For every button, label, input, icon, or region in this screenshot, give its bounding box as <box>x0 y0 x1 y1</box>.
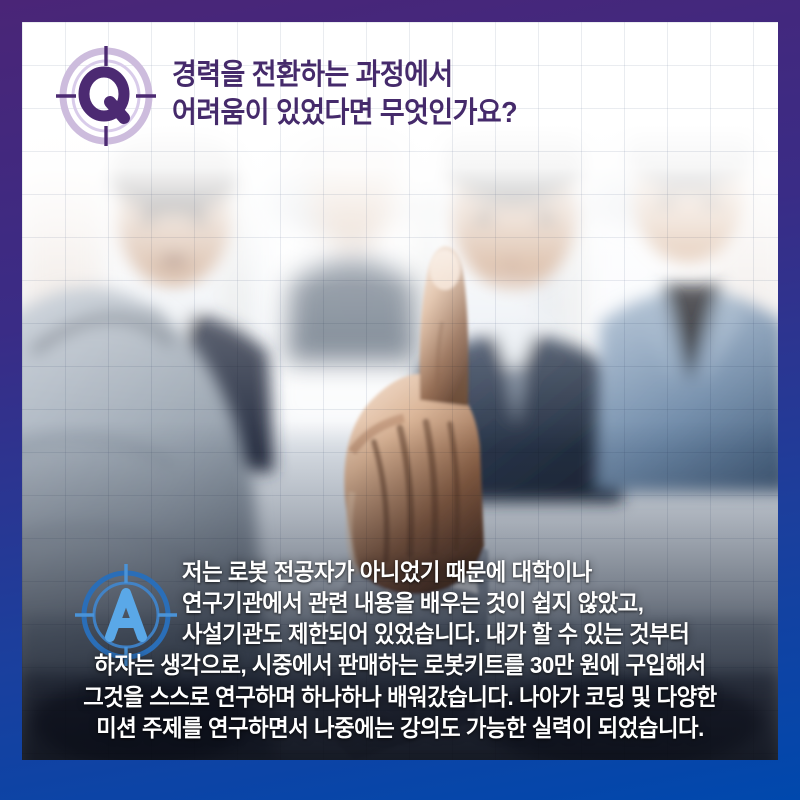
question-text: 경력을 전환하는 과정에서 어려움이 있었다면 무엇인가요? <box>172 44 517 133</box>
answer-text-top: 저는 로봇 전공자가 아니었기 때문에 대학이나 연구기관에서 관련 내용을 배… <box>182 557 748 651</box>
question-block: 경력을 전환하는 과정에서 어려움이 있었다면 무엇인가요? <box>54 44 758 148</box>
q-target-icon <box>54 44 158 148</box>
answer-block: 저는 로봇 전공자가 아니었기 때문에 대학이나 연구기관에서 관련 내용을 배… <box>22 557 778 745</box>
answer-text-bottom: 하자는 생각으로, 시중에서 판매하는 로봇키트를 30만 원에 구입해서 그것… <box>54 650 746 744</box>
card-inner: 경력을 전환하는 과정에서 어려움이 있었다면 무엇인가요? <box>22 22 778 760</box>
qa-card: 경력을 전환하는 과정에서 어려움이 있었다면 무엇인가요? <box>0 0 800 800</box>
